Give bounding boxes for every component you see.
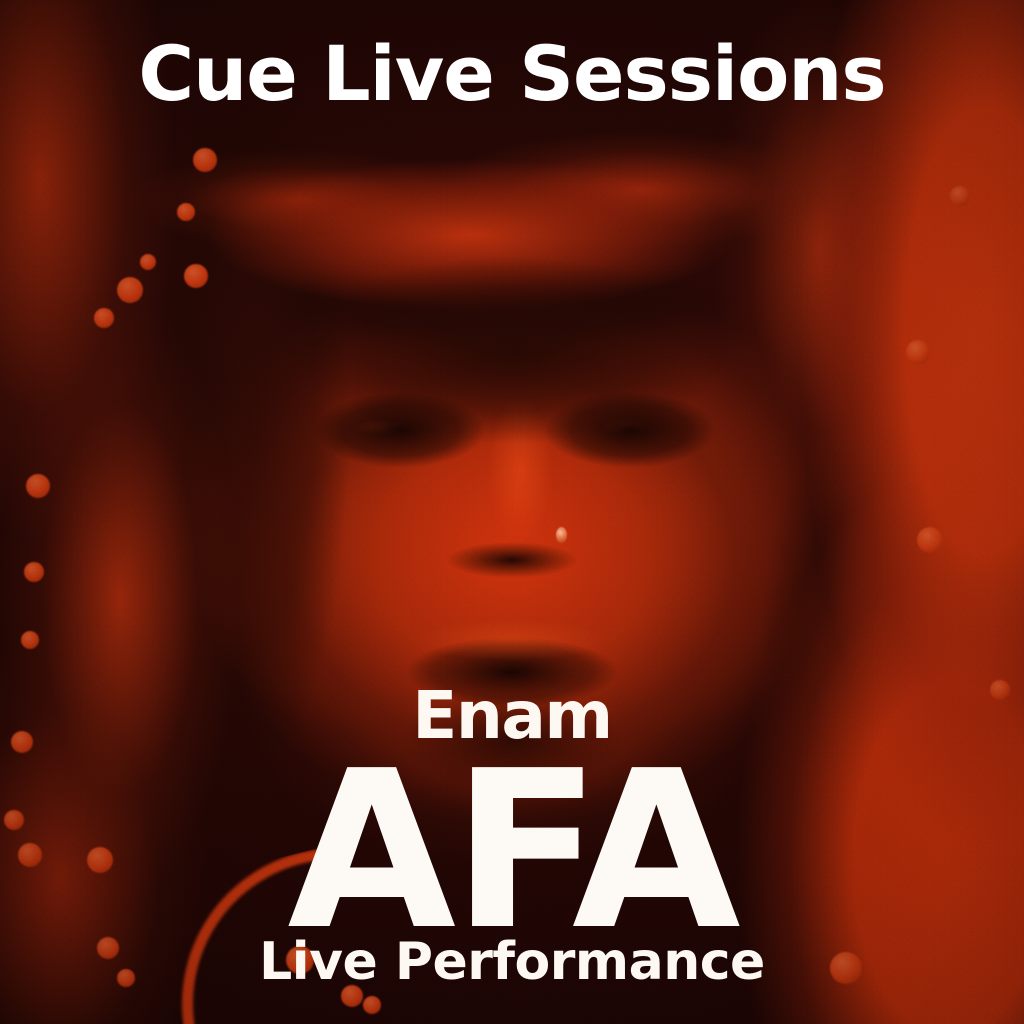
- performance-subtitle: Live Performance: [0, 936, 1024, 988]
- track-title: AFA: [0, 743, 1024, 961]
- album-cover: Cue Live Sessions Enam AFA Live Performa…: [0, 0, 1024, 1024]
- album-title: Cue Live Sessions: [0, 36, 1024, 112]
- cover-typography: Cue Live Sessions Enam AFA Live Performa…: [0, 0, 1024, 1024]
